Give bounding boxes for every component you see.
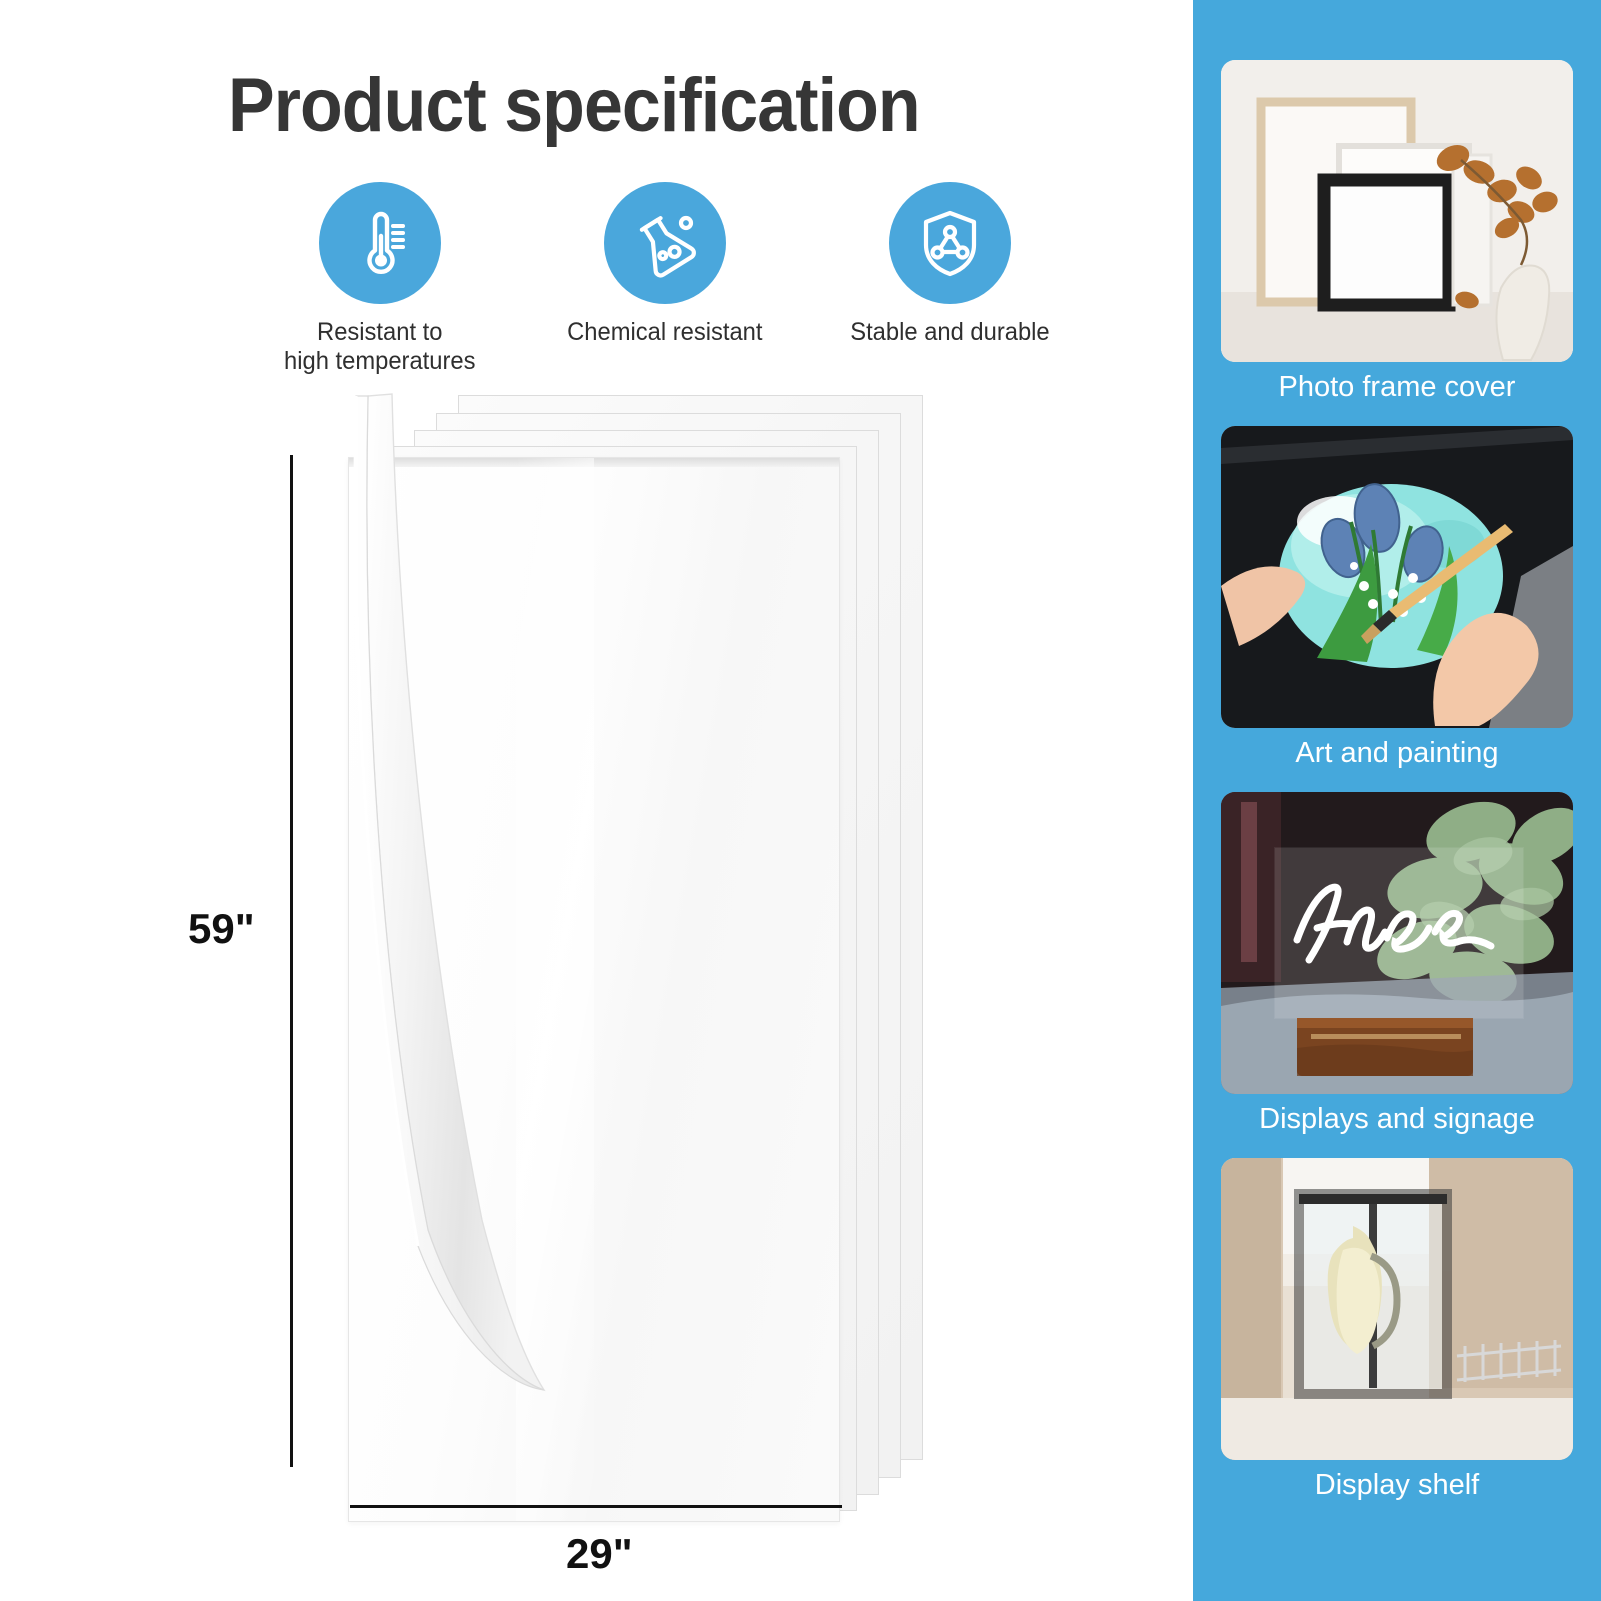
main-panel: Product specification Resistant to high … [0,0,1193,1601]
use-case-sidebar: Photo frame cover [1193,0,1601,1601]
use-case-caption: Photo frame cover [1221,372,1573,404]
art-painting-image [1221,426,1573,728]
feature-list: Resistant to high temperatures Chemica [255,182,1075,367]
width-dimension-line [350,1505,842,1508]
feature-label: Chemical resistant [567,318,762,347]
feature-chemical-resistant: Chemical resistant [540,182,790,347]
protective-film-peel [332,390,562,1400]
product-specification-infographic: Product specification Resistant to high … [0,0,1601,1601]
use-case-caption: Display shelf [1221,1470,1573,1502]
use-case-caption: Displays and signage [1221,1104,1573,1136]
height-dimension-label: 59" [188,905,255,953]
use-case-art-and-painting: Art and painting [1221,426,1573,770]
feature-label: Stable and durable [850,318,1049,347]
display-case-image [1221,1158,1573,1460]
acrylic-sign-image [1221,792,1573,1094]
use-case-photo-frame-cover: Photo frame cover [1221,60,1573,404]
use-case-display-shelf: Display shelf [1221,1158,1573,1502]
feature-stable-and-durable: Stable and durable [825,182,1075,347]
acrylic-sheet-stack-illustration [0,380,1193,1560]
use-case-displays-and-signage: Displays and signage [1221,792,1573,1136]
width-dimension-label: 29" [566,1530,633,1578]
shield-molecule-icon [889,182,1011,304]
thermometer-icon [319,182,441,304]
page-title: Product specification [228,62,920,149]
photo-frames-image [1221,60,1573,362]
flask-icon [604,182,726,304]
feature-resistant-to-high-temperatures: Resistant to high temperatures [255,182,505,377]
use-case-caption: Art and painting [1221,738,1573,770]
height-dimension-line [290,455,293,1467]
feature-label: Resistant to high temperatures [284,318,475,377]
